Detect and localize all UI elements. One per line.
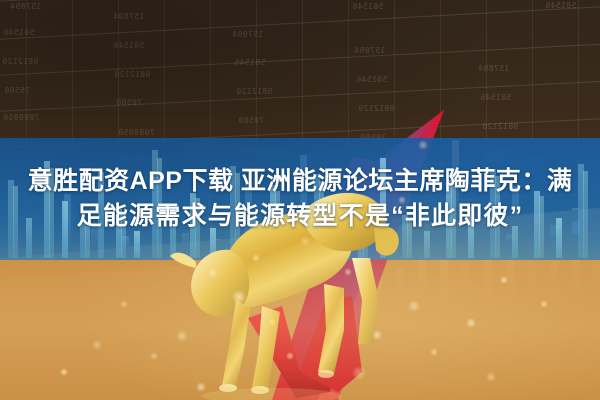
headline-line-1: 意胜配资APP下载 亚洲能源论坛主席陶菲克：满 xyxy=(28,165,573,198)
headline-block: 意胜配资APP下载 亚洲能源论坛主席陶菲克：满 足能源需求与能源转型不是“非此即… xyxy=(0,138,600,260)
headline-line-2: 足能源需求与能源转型不是“非此即彼” xyxy=(77,200,524,233)
news-banner: 1578945015469812120765007898910677187015… xyxy=(0,0,600,400)
